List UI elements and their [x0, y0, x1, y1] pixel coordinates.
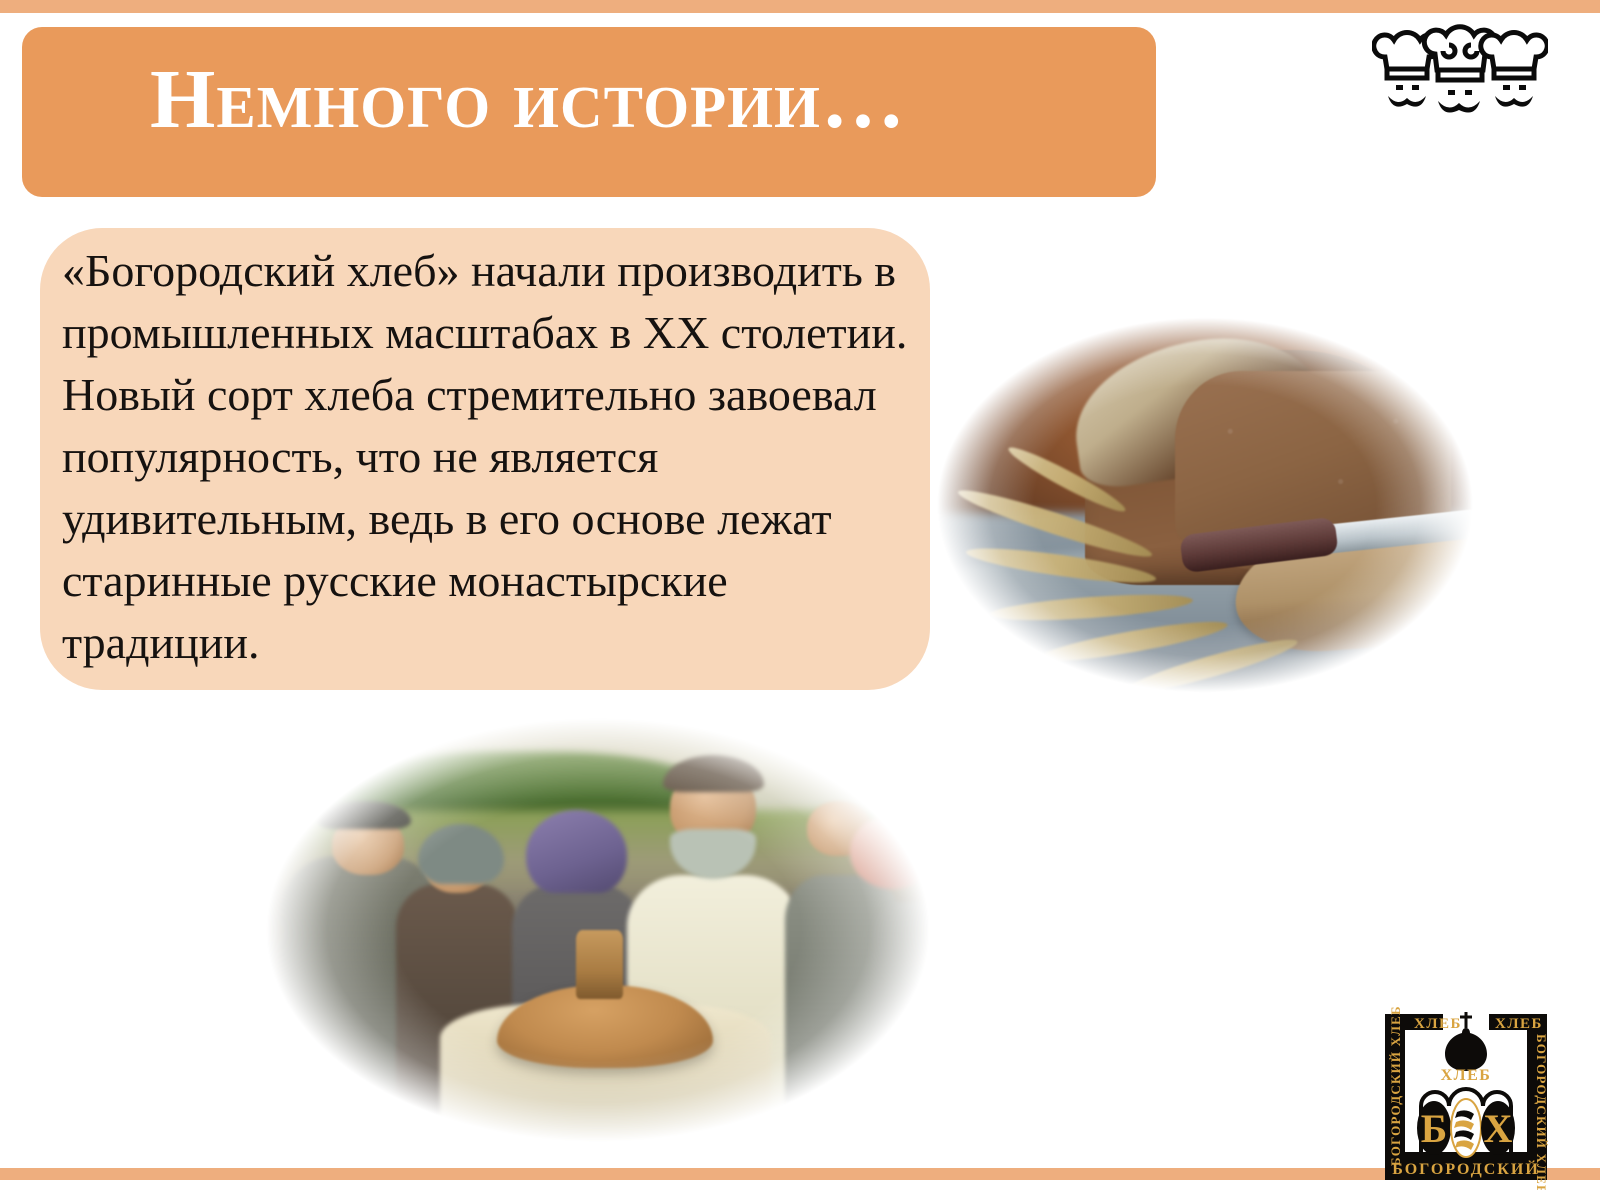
logo-word-dome: ХЛЕБ [1441, 1067, 1492, 1084]
logo-word-top-left: ХЛЕБ [1414, 1016, 1462, 1032]
chef-hats-icon [1372, 24, 1548, 116]
slide-canvas: Немного истории… [0, 0, 1600, 1200]
logo-word-bottom: БОГОРОДСКИЙ [1392, 1159, 1540, 1178]
logo-monogram-left: Б [1421, 1106, 1447, 1151]
bogorodsky-hleb-logo: ХЛЕБ ХЛЕБ БОГОРОДСКИЙ БОГОРОДСКИЙ ХЛЕБ Б… [1371, 994, 1561, 1190]
page-title: Немного истории… [150, 52, 1110, 148]
logo-word-top-right: ХЛЕБ [1495, 1016, 1543, 1032]
rye-bread-photo [905, 295, 1505, 715]
logo-word-right: БОГОРОДСКИЙ ХЛЕБ [1534, 1034, 1549, 1190]
body-text: «Богородский хлеб» начали производить в … [62, 240, 908, 674]
logo-monogram-right: Х [1484, 1106, 1513, 1151]
logo-word-left: БОГОРОДСКИЙ ХЛЕБ [1388, 1005, 1403, 1166]
peasants-bread-salt-painting [238, 700, 958, 1160]
bottom-accent-strip [0, 1168, 1600, 1180]
top-accent-strip [0, 0, 1600, 13]
